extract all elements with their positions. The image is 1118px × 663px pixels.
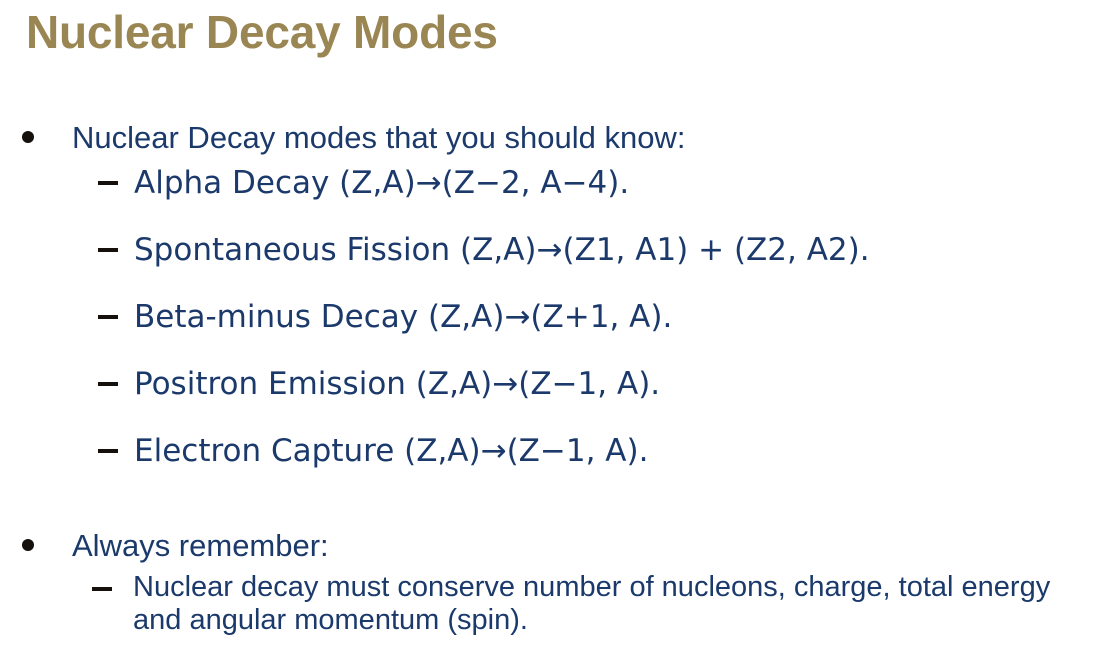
section-spacer — [0, 498, 1118, 526]
bullet-dot-icon — [22, 131, 34, 143]
list-item-positron-emission: Positron Emission (Z,A)→(Z−1, A). — [0, 364, 1118, 404]
bullet-dash-icon — [98, 449, 118, 453]
slide-body: Nuclear Decay modes that you should know… — [0, 118, 1118, 637]
list-item-beta-minus-decay: Beta-minus Decay (Z,A)→(Z+1, A). — [0, 297, 1118, 337]
list-item-label: Nuclear decay must conserve number of nu… — [133, 571, 1050, 636]
list-item-conservation-note: Nuclear decay must conserve number of nu… — [0, 571, 1118, 637]
bullet-dash-icon — [98, 181, 118, 185]
list-item-label: Positron Emission (Z,A)→(Z−1, A). — [134, 366, 660, 402]
bullet-dash-icon — [98, 315, 118, 319]
bullet-level1-decay-modes: Nuclear Decay modes that you should know… — [0, 118, 1118, 163]
list-item-alpha-decay: Alpha Decay (Z,A)→(Z−2, A−4). — [0, 163, 1118, 203]
list-item-label: Alpha Decay (Z,A)→(Z−2, A−4). — [134, 165, 629, 201]
bullet-level1-label: Always remember: — [72, 528, 329, 563]
bullet-dash-icon — [98, 382, 118, 386]
decay-modes-list: Alpha Decay (Z,A)→(Z−2, A−4). Spontaneou… — [0, 163, 1118, 471]
bullet-level1-always-remember: Always remember: — [0, 526, 1118, 571]
list-item-label: Electron Capture (Z,A)→(Z−1, A). — [134, 433, 648, 469]
slide-canvas: Nuclear Decay Modes Nuclear Decay modes … — [0, 0, 1118, 663]
bullet-dash-icon — [98, 248, 118, 252]
list-item-label: Beta-minus Decay (Z,A)→(Z+1, A). — [134, 299, 672, 335]
bullet-level1-label: Nuclear Decay modes that you should know… — [72, 120, 685, 155]
list-item-spontaneous-fission: Spontaneous Fission (Z,A)→(Z1, A1) + (Z2… — [0, 230, 1118, 270]
bullet-dot-icon — [22, 539, 34, 551]
list-item-electron-capture: Electron Capture (Z,A)→(Z−1, A). — [0, 431, 1118, 471]
bullet-dash-icon — [92, 587, 112, 591]
page-title: Nuclear Decay Modes — [26, 4, 498, 60]
list-item-label: Spontaneous Fission (Z,A)→(Z1, A1) + (Z2… — [134, 232, 870, 268]
